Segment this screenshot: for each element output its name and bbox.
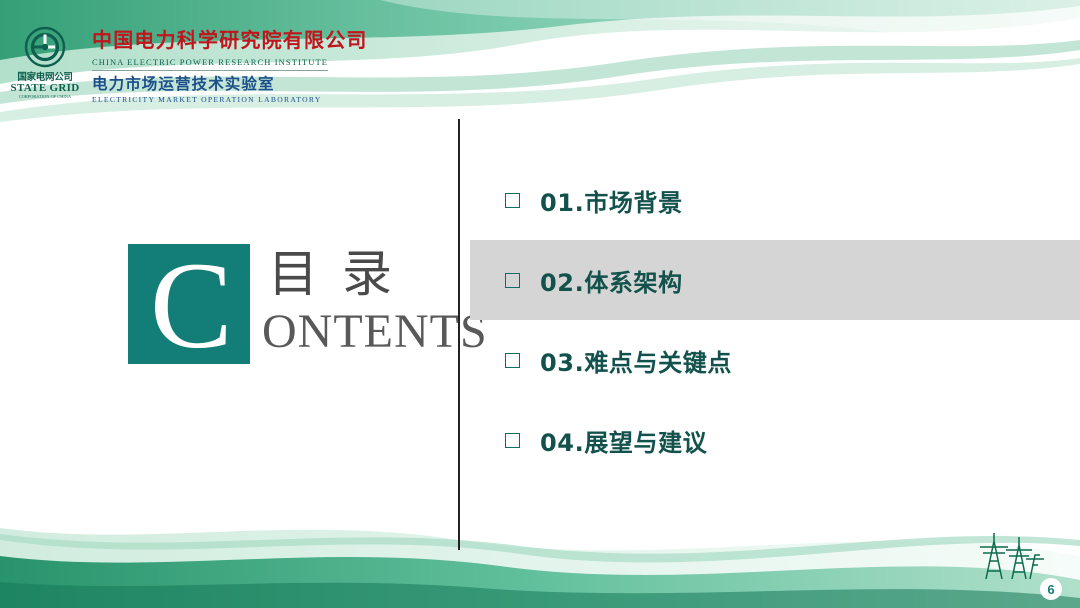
contents-artwork: C 目录 ONTENTS — [128, 244, 440, 364]
power-transmission-tower-icon — [972, 529, 1044, 586]
state-grid-en-label: STATE GRID — [8, 83, 82, 94]
institute-en-title: CHINA ELECTRIC POWER RESEARCH INSTITUTE — [92, 56, 328, 71]
toc-item-04[interactable]: 04.展望与建议 — [470, 400, 1070, 480]
checkbox-outline-icon — [505, 193, 520, 208]
toc-item-02[interactable]: 02.体系架构 — [470, 240, 1080, 320]
page-number-badge: 6 — [1040, 578, 1062, 600]
table-of-contents: 01.市场背景 02.体系架构 03.难点与关键点 04.展望与建议 — [470, 160, 1070, 480]
toc-item-01[interactable]: 01.市场背景 — [470, 160, 1070, 240]
institute-cn-title: 中国电力科学研究院有限公司 — [92, 28, 368, 52]
contents-initial-letter: C — [150, 256, 233, 356]
toc-item-label: 02.体系架构 — [540, 263, 683, 298]
state-grid-en-sublabel: CORPORATION OF CHINA — [9, 94, 80, 100]
contents-cn-title: 目录 — [268, 246, 416, 302]
state-grid-emblem-icon — [17, 26, 73, 68]
checkbox-outline-icon — [505, 273, 520, 288]
toc-item-03[interactable]: 03.难点与关键点 — [470, 320, 1070, 400]
state-grid-cn-label: 国家电网公司 — [8, 69, 82, 83]
checkbox-outline-icon — [505, 353, 520, 368]
presentation-slide: 国家电网公司 STATE GRID CORPORATION OF CHINA 中… — [0, 0, 1080, 608]
toc-item-label: 01.市场背景 — [540, 183, 683, 218]
contents-en-title: ONTENTS — [262, 306, 488, 358]
toc-item-label: 03.难点与关键点 — [540, 343, 732, 378]
lab-cn-title: 电力市场运营技术实验室 — [92, 73, 368, 95]
organization-logo-block: 国家电网公司 STATE GRID CORPORATION OF CHINA 中… — [8, 26, 368, 105]
organization-titles: 中国电力科学研究院有限公司 CHINA ELECTRIC POWER RESEA… — [92, 26, 368, 105]
state-grid-logo: 国家电网公司 STATE GRID CORPORATION OF CHINA — [8, 26, 82, 100]
checkbox-outline-icon — [505, 433, 520, 448]
lab-en-title: ELECTRICITY MARKET OPERATION LABORATORY — [92, 95, 368, 105]
toc-item-label: 04.展望与建议 — [540, 423, 707, 458]
vertical-divider — [458, 119, 460, 550]
